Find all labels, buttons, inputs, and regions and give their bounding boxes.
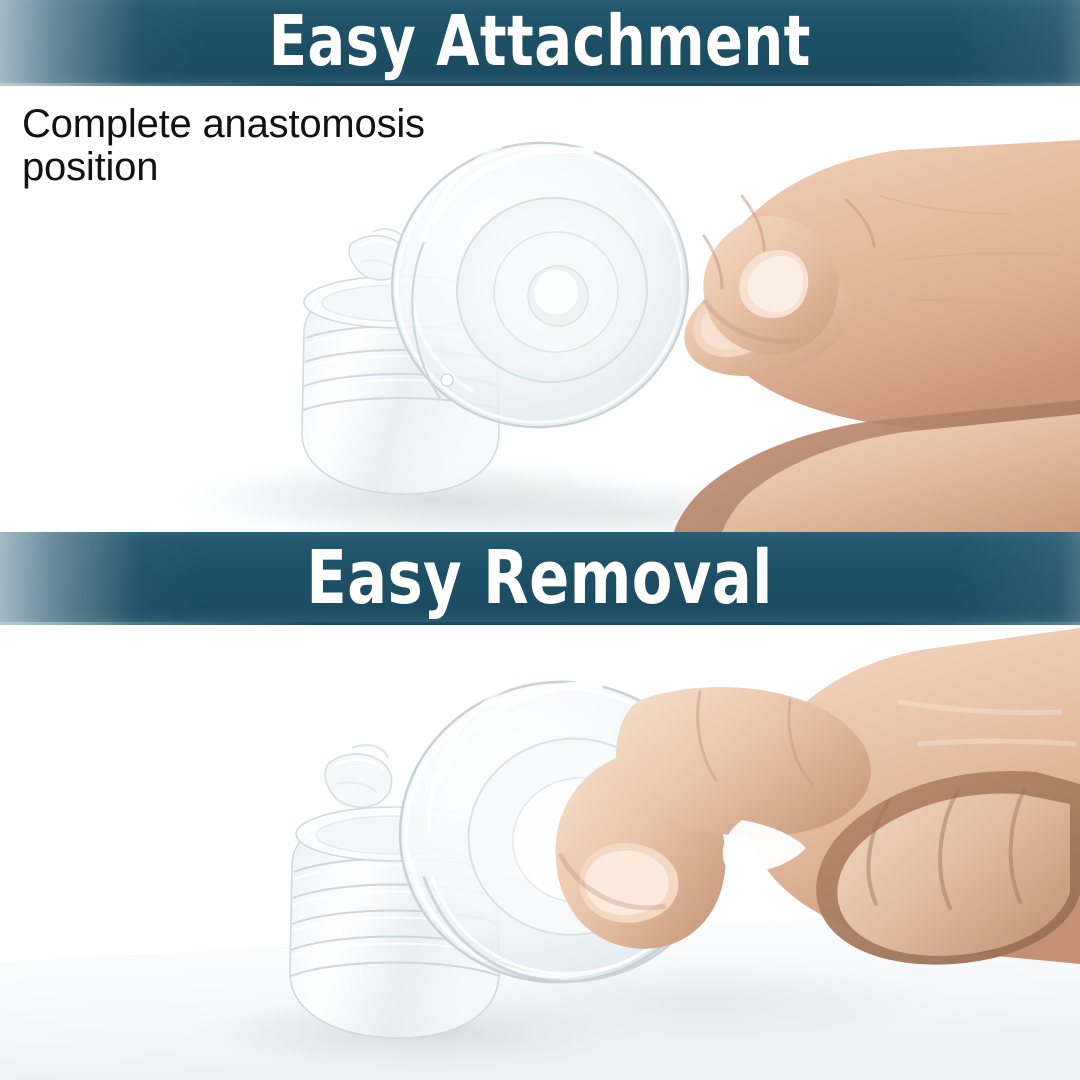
caption-easy-attachment: Complete anastomosis position xyxy=(22,103,542,189)
banner-easy-removal: Easy Removal xyxy=(0,532,1080,625)
banner-title-easy-removal: Easy Removal xyxy=(307,541,774,615)
banner-easy-attachment: Easy Attachment xyxy=(0,0,1080,86)
infographic-canvas: Complete anastomosis position xyxy=(0,0,1080,1080)
banner-title-easy-attachment: Easy Attachment xyxy=(269,6,811,76)
